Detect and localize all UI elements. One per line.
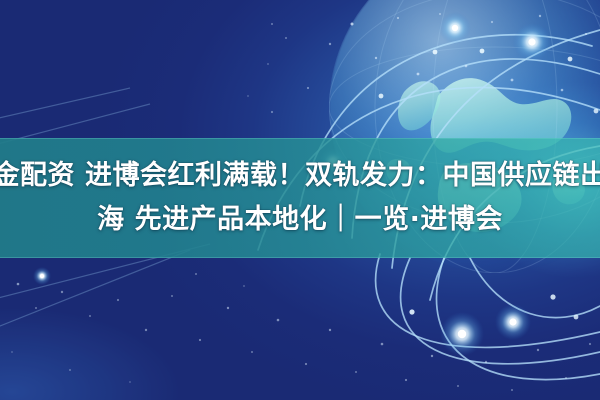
headline-line-1: 金配资 进博会红利满载！双轨发力：中国供应链出 — [0, 154, 600, 198]
node-arc-b — [480, 49, 485, 54]
node-bottom-b — [550, 294, 555, 299]
article-thumbnail: 金配资 进博会红利满载！双轨发力：中国供应链出 海 先进产品本地化｜一览·进博会 — [0, 0, 600, 400]
node-bottom-c — [574, 315, 579, 320]
node-bright-upper-right — [528, 38, 535, 45]
node-arc-e — [594, 109, 599, 114]
node-arc-d — [379, 94, 384, 99]
node-left-small — [40, 274, 44, 278]
node-arc-c — [568, 57, 573, 62]
headline: 金配资 进博会红利满载！双轨发力：中国供应链出 海 先进产品本地化｜一览·进博会 — [0, 138, 600, 258]
node-arc-a — [433, 50, 438, 55]
node-bottom-bright-1 — [458, 330, 466, 338]
headline-line-2: 海 先进产品本地化｜一览·进博会 — [97, 198, 503, 242]
arc-left-diag-4 — [0, 88, 130, 120]
node-bottom-a — [409, 309, 414, 314]
node-bottom-bright-2 — [509, 318, 516, 325]
node-bright-top — [452, 25, 458, 31]
